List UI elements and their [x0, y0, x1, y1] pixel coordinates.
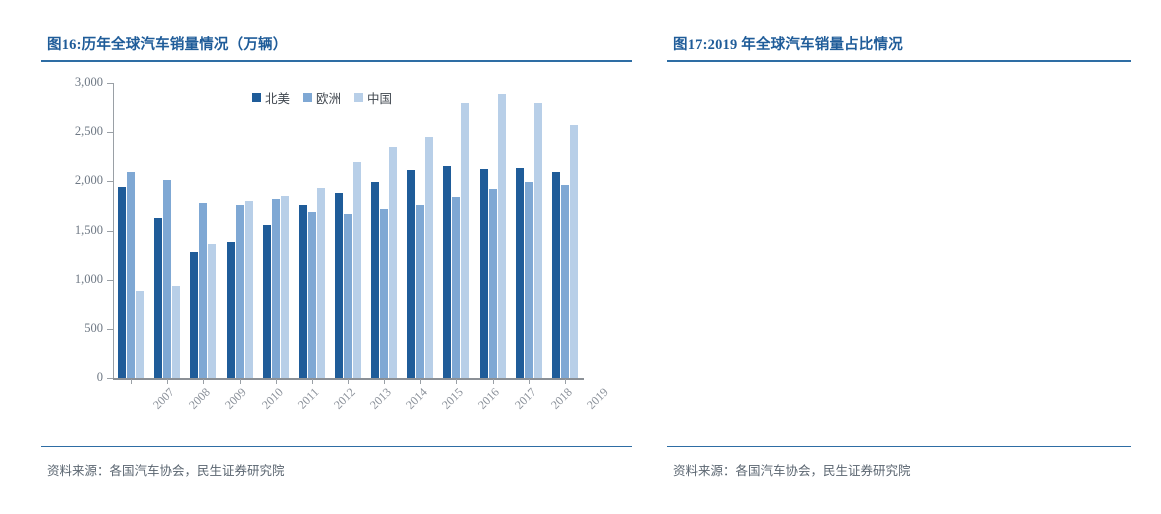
- bar[interactable]: [425, 137, 433, 378]
- bar[interactable]: [461, 103, 469, 378]
- x-axis-tick-label: 2009: [222, 385, 250, 413]
- y-axis-tick-mark: [107, 181, 113, 182]
- footer-divider-left: [41, 446, 632, 447]
- bar[interactable]: [353, 162, 361, 378]
- bar-group: [149, 83, 185, 378]
- bar-group: [438, 83, 474, 378]
- title-divider-right: [667, 60, 1131, 62]
- y-axis-tick-mark: [107, 132, 113, 133]
- bar[interactable]: [308, 212, 316, 378]
- bar[interactable]: [335, 193, 343, 378]
- bar[interactable]: [480, 169, 488, 378]
- bar[interactable]: [199, 203, 207, 378]
- footer-divider-right: [667, 446, 1131, 447]
- x-axis-tick-mark: [565, 379, 566, 384]
- bar-chart-y-axis-labels: 05001,0001,5002,0002,5003,000: [30, 83, 103, 379]
- bar[interactable]: [516, 168, 524, 378]
- bar-group: [258, 83, 294, 378]
- bar-group: [402, 83, 438, 378]
- bar[interactable]: [227, 242, 235, 378]
- bar-group: [547, 83, 583, 378]
- bar[interactable]: [525, 182, 533, 378]
- bar[interactable]: [190, 252, 198, 378]
- bar[interactable]: [208, 244, 216, 378]
- bar-group: [185, 83, 221, 378]
- bar[interactable]: [561, 185, 569, 378]
- bar[interactable]: [407, 170, 415, 378]
- figure-17-title: 图17:2019 年全球汽车销量占比情况: [673, 33, 903, 54]
- bar[interactable]: [489, 189, 497, 378]
- x-axis-tick-label: 2008: [186, 385, 214, 413]
- bar-group: [113, 83, 149, 378]
- y-axis-tick-label: 500: [33, 321, 103, 336]
- bar-group: [221, 83, 257, 378]
- y-axis-tick-label: 1,500: [33, 223, 103, 238]
- y-axis-tick-label: 0: [33, 370, 103, 385]
- bar-group: [366, 83, 402, 378]
- figure-16-title: 图16:历年全球汽车销量情况（万辆）: [47, 33, 287, 54]
- x-axis-tick-mark: [348, 379, 349, 384]
- bar[interactable]: [389, 147, 397, 378]
- bar[interactable]: [172, 286, 180, 378]
- x-axis-tick-mark: [276, 379, 277, 384]
- y-axis-tick-label: 2,500: [33, 124, 103, 139]
- x-axis-tick-label: 2018: [548, 385, 576, 413]
- x-axis-tick-mark: [456, 379, 457, 384]
- bar[interactable]: [317, 188, 325, 378]
- bar[interactable]: [263, 225, 271, 378]
- bar-group: [475, 83, 511, 378]
- bar[interactable]: [299, 205, 307, 378]
- x-axis-tick-mark: [131, 379, 132, 384]
- y-axis-tick-label: 3,000: [33, 75, 103, 90]
- bar-group: [330, 83, 366, 378]
- x-axis-tick-label: 2017: [512, 385, 540, 413]
- x-axis-tick-label: 2015: [439, 385, 467, 413]
- bar[interactable]: [570, 125, 578, 378]
- bar[interactable]: [118, 187, 126, 378]
- y-axis-tick-mark: [107, 378, 113, 379]
- y-axis-tick-mark: [107, 329, 113, 330]
- x-axis-tick-label: 2012: [331, 385, 359, 413]
- y-axis-tick-mark: [107, 280, 113, 281]
- bar[interactable]: [127, 172, 135, 379]
- x-axis-tick-label: 2013: [367, 385, 395, 413]
- x-axis-tick-label: 2007: [150, 385, 178, 413]
- bar-chart-plot-area: [113, 83, 583, 378]
- bar[interactable]: [371, 182, 379, 378]
- bar[interactable]: [272, 199, 280, 378]
- bar[interactable]: [552, 172, 560, 378]
- x-axis-tick-mark: [167, 379, 168, 384]
- x-axis-tick-label: 2011: [295, 385, 322, 412]
- x-axis-tick-mark: [312, 379, 313, 384]
- bar[interactable]: [281, 196, 289, 378]
- bar[interactable]: [154, 218, 162, 378]
- x-axis-tick-label: 2019: [584, 385, 612, 413]
- y-axis-tick-label: 2,000: [33, 173, 103, 188]
- bar[interactable]: [136, 291, 144, 378]
- figure-panel-pie: 图17:2019 年全球汽车销量占比情况 北美欧洲中国其他 23.1%21.8%…: [620, 0, 1161, 514]
- x-axis-tick-label: 2010: [259, 385, 287, 413]
- x-axis-tick-mark: [493, 379, 494, 384]
- bar[interactable]: [163, 180, 171, 378]
- bar-group: [294, 83, 330, 378]
- bar[interactable]: [443, 166, 451, 378]
- x-axis-tick-mark: [240, 379, 241, 384]
- bar[interactable]: [245, 201, 253, 378]
- figure-17-source: 资料来源：各国汽车协会，民生证券研究院: [673, 460, 911, 479]
- figure-panel-bar: 图16:历年全球汽车销量情况（万辆） 北美欧洲中国 05001,0001,500…: [0, 0, 620, 514]
- x-axis-tick-mark: [384, 379, 385, 384]
- bar[interactable]: [534, 103, 542, 378]
- figure-16-source: 资料来源：各国汽车协会，民生证券研究院: [47, 460, 285, 479]
- y-axis-tick-mark: [107, 231, 113, 232]
- bar[interactable]: [416, 205, 424, 378]
- bar[interactable]: [452, 197, 460, 378]
- y-axis-tick-mark: [107, 83, 113, 84]
- x-axis-tick-mark: [420, 379, 421, 384]
- x-axis-tick-label: 2016: [475, 385, 503, 413]
- report-page: 图16:历年全球汽车销量情况（万辆） 北美欧洲中国 05001,0001,500…: [0, 0, 1161, 514]
- bar[interactable]: [344, 214, 352, 378]
- title-divider-left: [41, 60, 632, 62]
- x-axis-tick-label: 2014: [403, 385, 431, 413]
- bar-group: [511, 83, 547, 378]
- bar[interactable]: [236, 205, 244, 378]
- x-axis-tick-mark: [203, 379, 204, 384]
- bar[interactable]: [498, 94, 506, 378]
- x-axis-tick-mark: [529, 379, 530, 384]
- bar[interactable]: [380, 209, 388, 378]
- y-axis-tick-label: 1,000: [33, 272, 103, 287]
